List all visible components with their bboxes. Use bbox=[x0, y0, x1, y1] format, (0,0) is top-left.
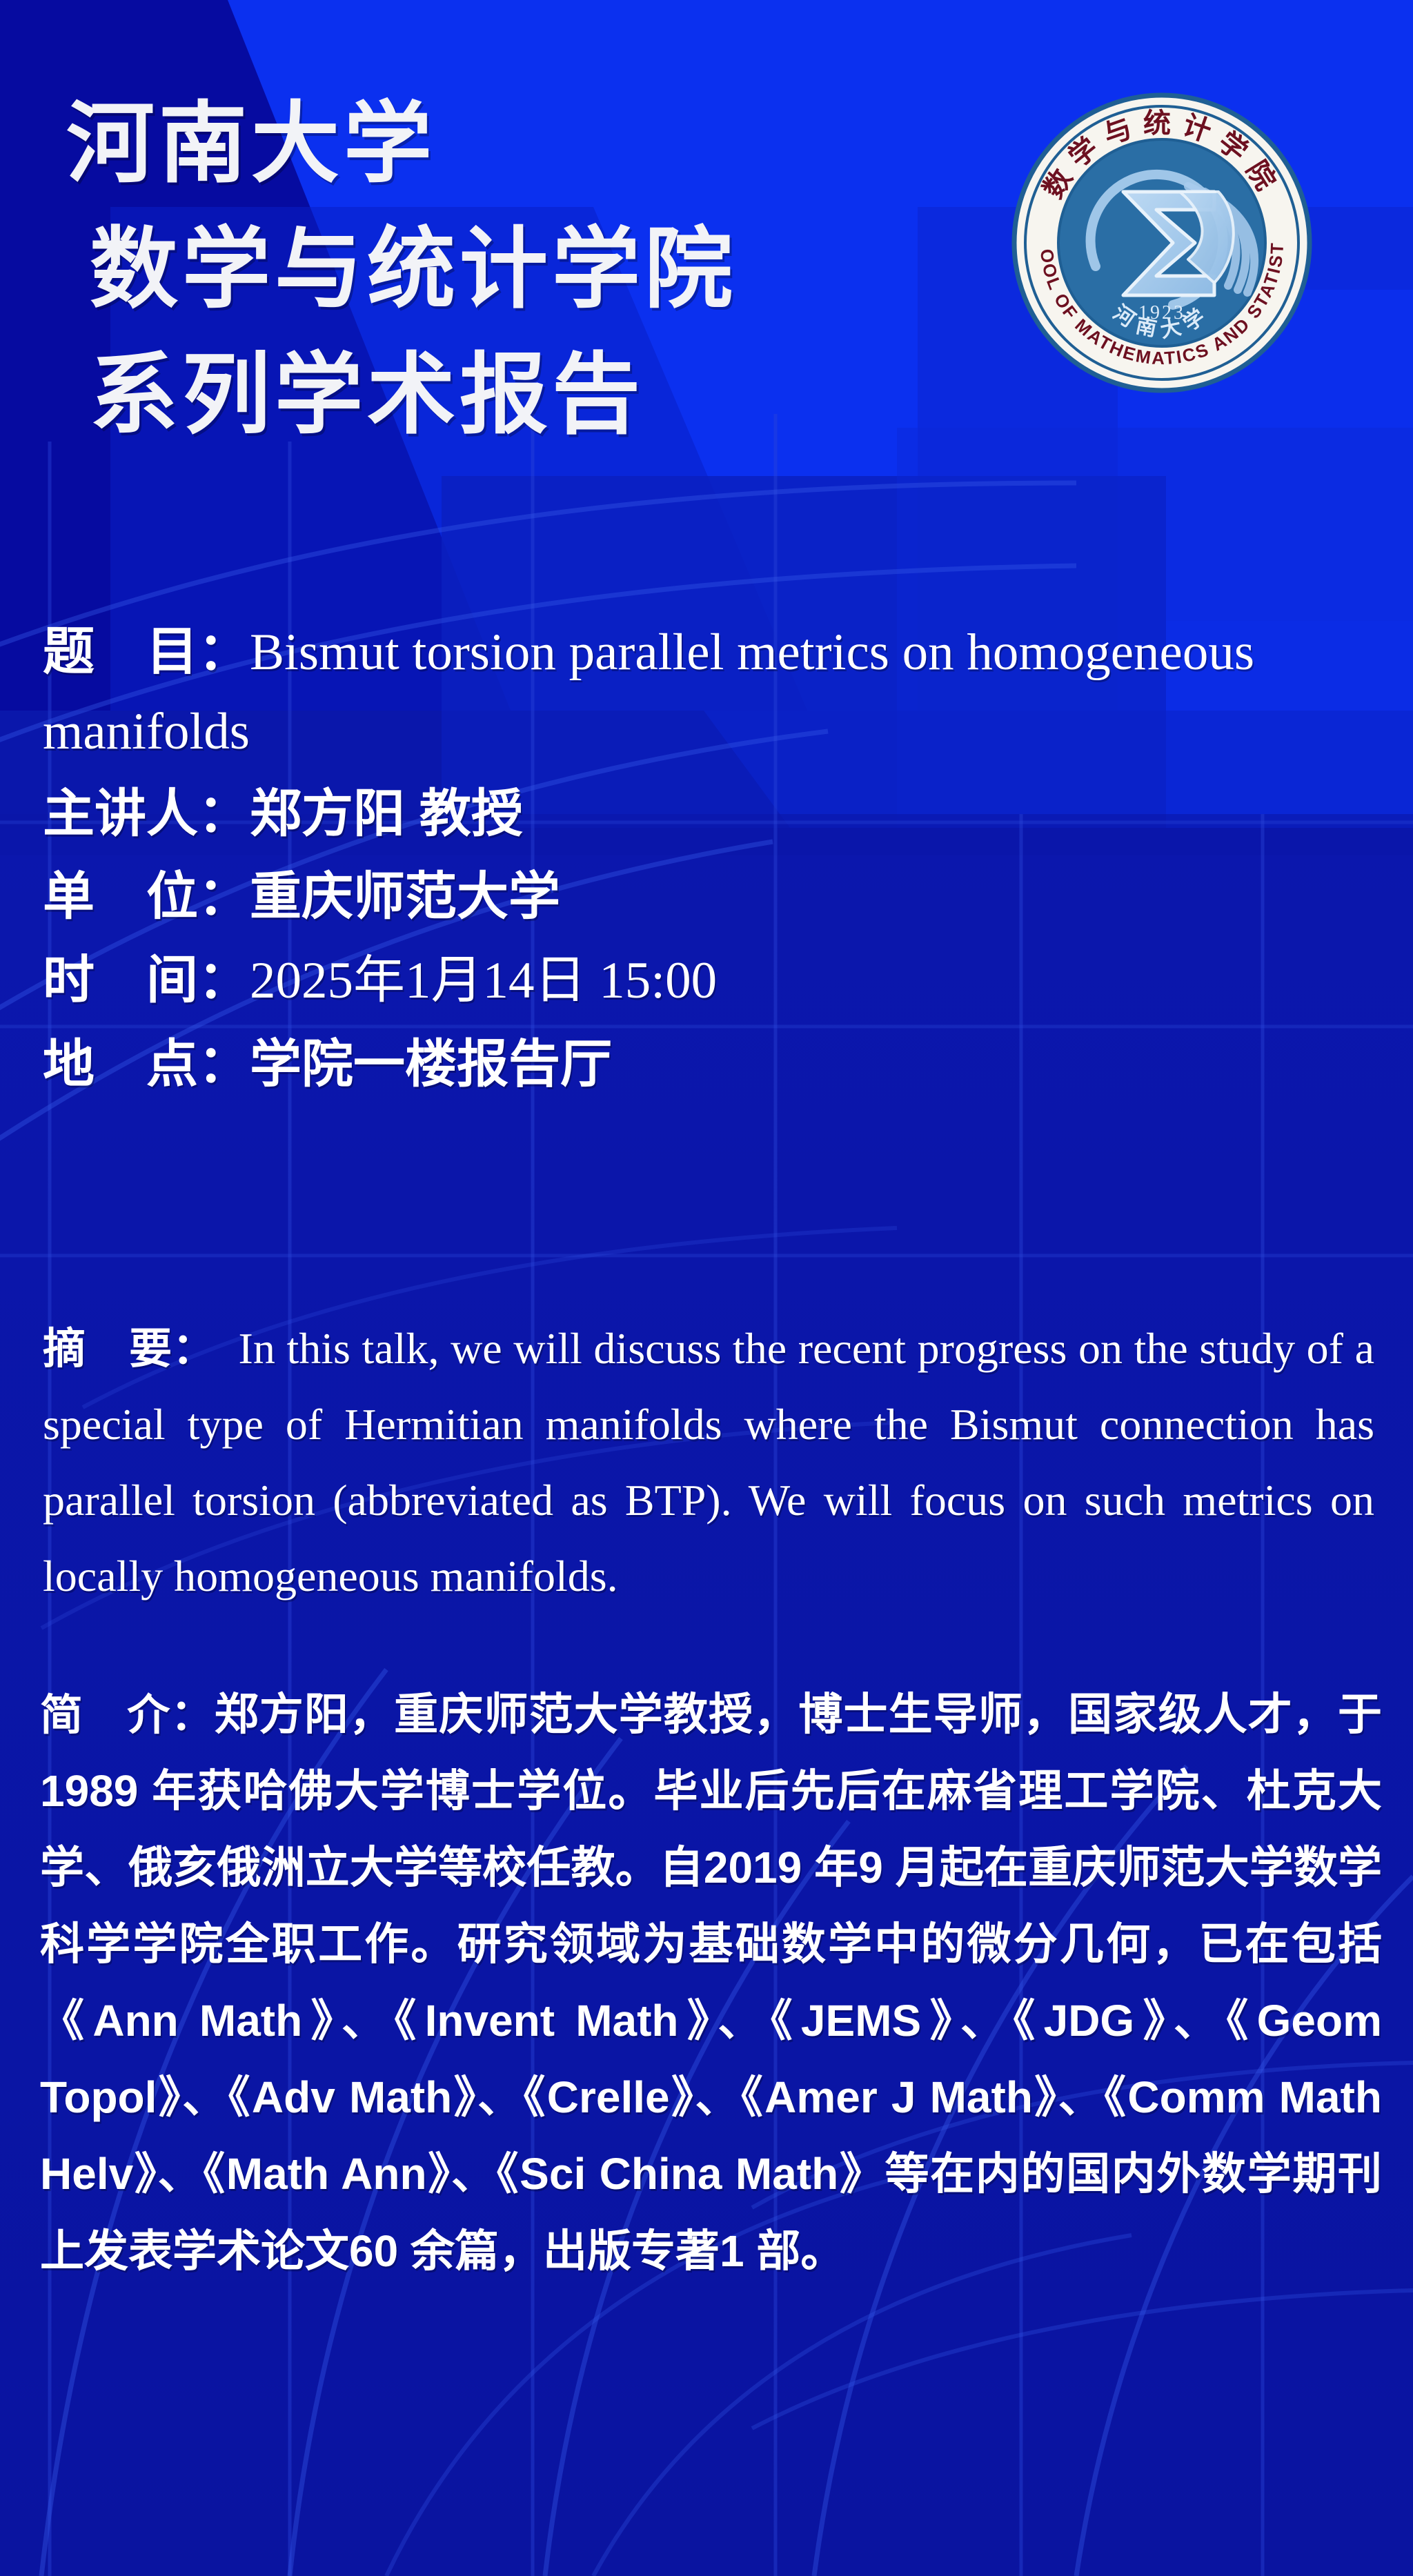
detail-value-venue: 学院一楼报告厅 bbox=[250, 1035, 612, 1093]
detail-value-affiliation: 重庆师范大学 bbox=[250, 867, 560, 925]
school-emblem-icon: 1923 河南大学 数学与统计学院 SCHOOL OF MATHEMATICS … bbox=[1007, 88, 1316, 397]
detail-value-time: 2025年1月14日 15:00 bbox=[250, 952, 717, 1009]
page-title: 河南大学 数学与统计学院 系列学术报告 bbox=[66, 81, 991, 457]
bio-label: 简 介： bbox=[40, 1692, 215, 1739]
detail-label-venue: 地 点： bbox=[43, 1035, 250, 1093]
detail-row-title: 题 目：Bismut torsion parallel metrics on h… bbox=[43, 613, 1388, 771]
detail-label-speaker: 主讲人： bbox=[43, 784, 250, 842]
detail-label-affiliation: 单 位： bbox=[43, 867, 250, 925]
bio-text: 郑方阳，重庆师范大学教授，博士生导师，国家级人才，于1989 年获哈佛大学博士学… bbox=[40, 1690, 1382, 2276]
detail-row-speaker: 主讲人：郑方阳 教授 bbox=[43, 773, 1388, 853]
title-line-series: 系列学术报告 bbox=[90, 333, 991, 458]
detail-row-affiliation: 单 位：重庆师范大学 bbox=[43, 856, 1388, 936]
detail-label-time: 时 间： bbox=[43, 951, 250, 1009]
detail-row-time: 时 间：2025年1月14日 15:00 bbox=[43, 940, 1388, 1021]
detail-value-speaker: 郑方阳 教授 bbox=[250, 784, 523, 842]
detail-row-venue: 地 点：学院一楼报告厅 bbox=[43, 1024, 1388, 1104]
detail-label-title: 题 目： bbox=[43, 622, 250, 680]
talk-details: 题 目：Bismut torsion parallel metrics on h… bbox=[43, 613, 1388, 1107]
seminar-poster: 河南大学 数学与统计学院 系列学术报告 bbox=[0, 0, 1413, 2576]
abstract-text: In this talk, we will discuss the recent… bbox=[43, 1324, 1374, 1601]
abstract-label: 摘 要： bbox=[43, 1325, 215, 1373]
abstract-section: 摘 要： In this talk, we will discuss the r… bbox=[43, 1311, 1374, 1614]
poster-header: 河南大学 数学与统计学院 系列学术报告 bbox=[0, 0, 1413, 607]
title-line-university: 河南大学 bbox=[66, 81, 991, 207]
school-logo: 1923 河南大学 数学与统计学院 SCHOOL OF MATHEMATICS … bbox=[1007, 88, 1316, 397]
title-line-school: 数学与统计学院 bbox=[90, 207, 991, 333]
bio-section: 简 介：郑方阳，重庆师范大学教授，博士生导师，国家级人才，于1989 年获哈佛大… bbox=[40, 1676, 1382, 2290]
